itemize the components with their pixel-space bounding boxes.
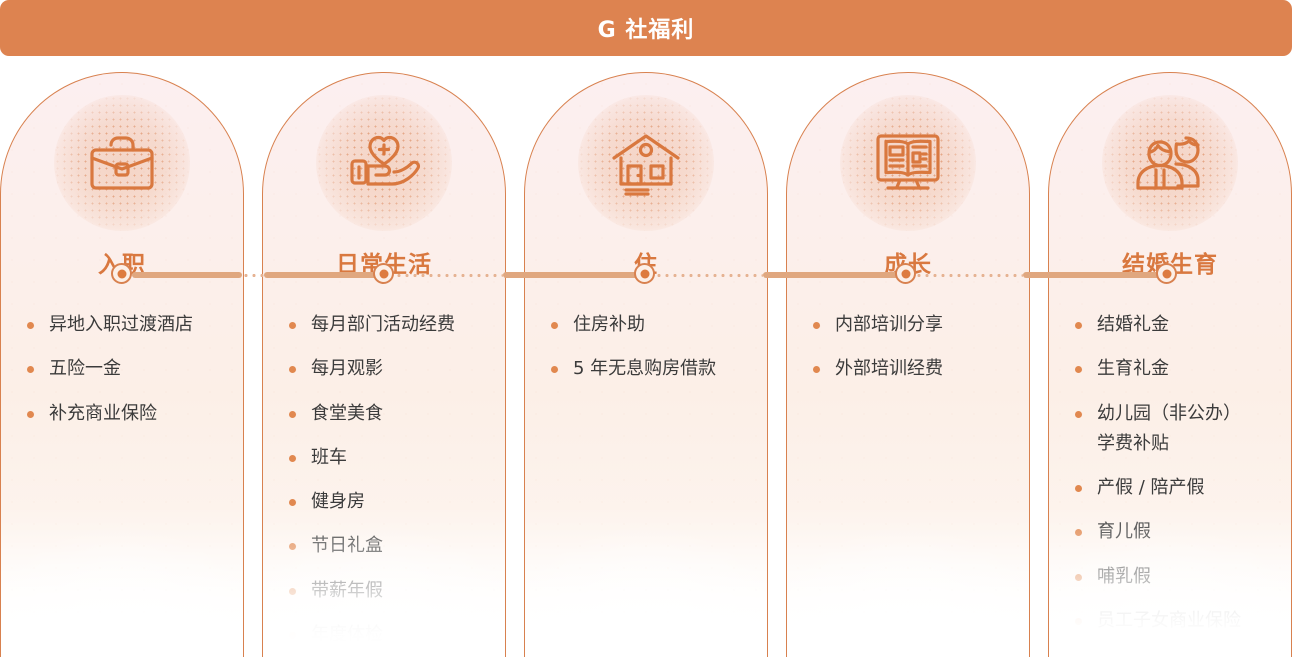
icon-container [1102,95,1238,231]
bottom-edge-fade [786,601,1030,657]
list-item-label: 带薪年假 [311,580,383,601]
benefit-column-daily-life[interactable]: 日常生活 每月部门活动经费 每月观影 食堂美食 班车 健身房 节日礼盒 带薪年假… [262,72,506,657]
benefit-column-growth[interactable]: 成长 内部培训分享 外部培训经费 [786,72,1030,657]
list-item: 幼儿园（非公办）学费补贴 [1075,402,1277,457]
bullet-dot [551,366,558,373]
bullet-dot [813,366,820,373]
list-item-label: 哺乳假 [1097,566,1151,587]
columns-container: 入职 异地入职过渡酒店 五险一金 补充商业保险 [0,72,1292,657]
house-icon [608,128,684,198]
benefit-column-housing[interactable]: 住 住房补助 5 年无息购房借款 [524,72,768,657]
icon-container [840,95,976,231]
briefcase-icon [84,128,160,198]
list-item: 住房补助 [551,313,753,337]
bullet-dot [289,455,296,462]
column-title: 住 [525,245,767,279]
list-item-label: 生育礼金 [1097,358,1169,379]
list-item: 食堂美食 [289,402,491,426]
list-item-sublabel: 学费补贴 [1097,432,1277,456]
bullet-dot [289,411,296,418]
icon-container [578,95,714,231]
list-item-label: 产假 / 陪产假 [1097,477,1205,498]
bottom-edge-fade [0,601,244,657]
list-item: 补充商业保险 [27,402,229,426]
bullet-dot [813,322,820,329]
infographic-page: G 社福利 入职 异地入职过渡酒店 五险一金 补充商业保险 [0,0,1292,657]
bullet-dot [289,499,296,506]
bullet-dot [289,632,296,639]
bullet-dot [1075,366,1082,373]
bottom-fade [525,507,767,657]
bullet-dot [1075,485,1082,492]
benefit-list: 每月部门活动经费 每月观影 食堂美食 班车 健身房 节日礼盒 带薪年假 年度体检 [263,313,505,647]
icon-container [54,95,190,231]
list-item-label: 每月部门活动经费 [311,314,455,335]
list-item-label: 幼儿园（非公办） [1097,403,1241,424]
list-item-label: 健身房 [311,491,365,512]
list-item-label: 住房补助 [573,314,645,335]
list-item-label: 食堂美食 [311,403,383,424]
couple-icon [1130,128,1210,198]
bullet-dot [551,322,558,329]
list-item: 5 年无息购房借款 [551,357,753,381]
bullet-dot [289,588,296,595]
bullet-dot [1075,529,1082,536]
bottom-fade [787,507,1029,657]
list-item: 员工子女商业保险 [1075,609,1277,633]
list-item-label: 五险一金 [49,358,121,379]
bullet-dot [1075,322,1082,329]
list-item-label: 异地入职过渡酒店 [49,314,193,335]
icon-container [316,95,452,231]
bullet-dot [289,322,296,329]
list-item: 外部培训经费 [813,357,1015,381]
list-item: 产假 / 陪产假 [1075,476,1277,500]
list-item: 每月观影 [289,357,491,381]
list-item-label: 结婚礼金 [1097,314,1169,335]
bullet-dot [1075,574,1082,581]
bottom-edge-fade [524,601,768,657]
column-title: 成长 [787,245,1029,279]
column-title: 日常生活 [263,245,505,279]
column-title: 入职 [1,245,243,279]
list-item: 哺乳假 [1075,565,1277,589]
list-item-label: 外部培训经费 [835,358,943,379]
list-item-label: 每月观影 [311,358,383,379]
list-item-label: 内部培训分享 [835,314,943,335]
list-item-label: 班车 [311,447,347,468]
bullet-dot [1075,618,1082,625]
bullet-dot [27,322,34,329]
list-item: 五险一金 [27,357,229,381]
list-item-label: 节日礼盒 [311,535,383,556]
list-item: 生育礼金 [1075,357,1277,381]
bullet-dot [27,411,34,418]
list-item: 育儿假 [1075,520,1277,544]
bullet-dot [27,366,34,373]
bullet-dot [289,543,296,550]
benefit-column-marriage-parenting[interactable]: 结婚生育 结婚礼金 生育礼金 幼儿园（非公办）学费补贴 产假 / 陪产假 育儿假… [1048,72,1292,657]
list-item: 内部培训分享 [813,313,1015,337]
benefit-column-onboarding[interactable]: 入职 异地入职过渡酒店 五险一金 补充商业保险 [0,72,244,657]
header-bar: G 社福利 [0,0,1292,56]
benefit-list: 异地入职过渡酒店 五险一金 补充商业保险 [1,313,243,426]
bullet-dot [1075,411,1082,418]
column-title: 结婚生育 [1049,245,1291,279]
list-item-label: 5 年无息购房借款 [573,358,716,379]
bottom-fade [1,507,243,657]
list-item-label: 补充商业保险 [49,403,157,424]
monitor-book-icon [870,128,946,198]
list-item: 每月部门活动经费 [289,313,491,337]
list-item-label: 员工子女商业保险 [1097,610,1241,631]
page-title: G 社福利 [598,12,695,44]
benefit-list: 内部培训分享 外部培训经费 [787,313,1029,382]
benefit-list: 结婚礼金 生育礼金 幼儿园（非公办）学费补贴 产假 / 陪产假 育儿假 哺乳假 … [1049,313,1291,633]
bullet-dot [289,366,296,373]
list-item: 班车 [289,446,491,470]
list-item: 带薪年假 [289,579,491,603]
list-item: 年度体检 [289,623,491,647]
list-item: 健身房 [289,490,491,514]
heart-in-hand-icon [344,128,424,198]
list-item-label: 年度体检 [311,624,383,645]
list-item: 异地入职过渡酒店 [27,313,229,337]
list-item-label: 育儿假 [1097,521,1151,542]
benefit-list: 住房补助 5 年无息购房借款 [525,313,767,382]
list-item: 节日礼盒 [289,534,491,558]
list-item: 结婚礼金 [1075,313,1277,337]
